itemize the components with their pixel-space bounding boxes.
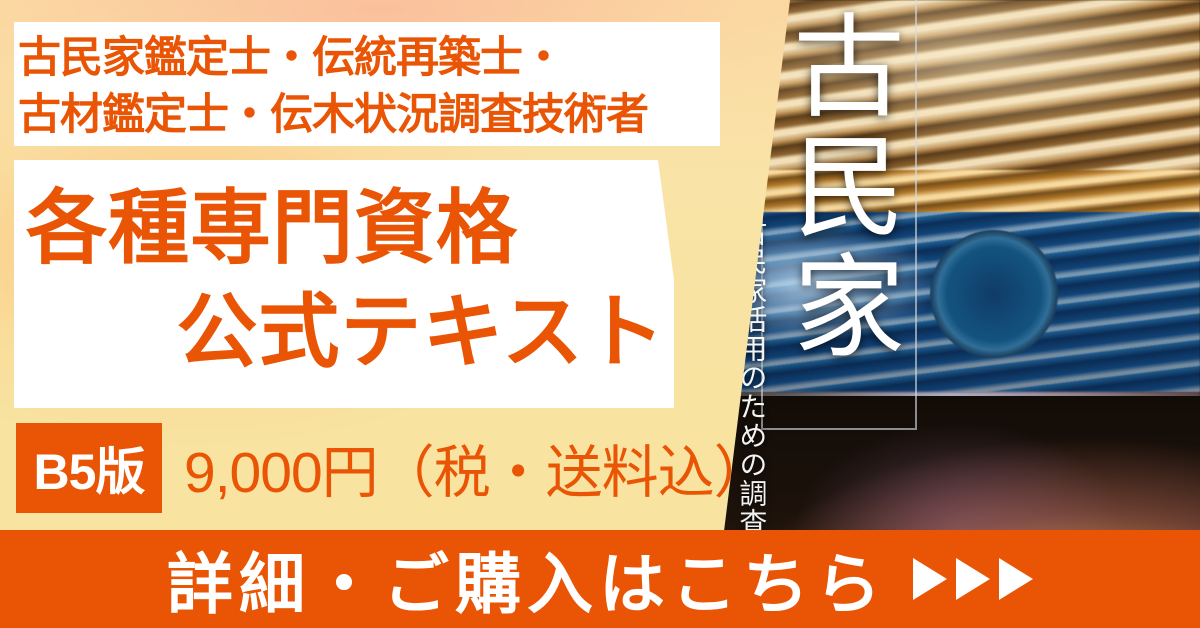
qualification-line-2: 古材鑑定士・伝木状況調査技術者 [18, 87, 718, 144]
qualification-line-1: 古民家鑑定士・伝統再築士・ [18, 30, 718, 87]
price-row: B5版 9,000円（税・送料込） [16, 423, 770, 513]
cover-title-text: 古民家 [772, 8, 906, 368]
qualifications-text: 古民家鑑定士・伝統再築士・ 古材鑑定士・伝木状況調査技術者 [18, 30, 718, 144]
cta-bar[interactable]: 詳細・ご購入はこちら [0, 530, 1200, 628]
chevron-right-icon [913, 558, 947, 600]
headline-line-1: 各種専門資格 [20, 178, 670, 282]
headline-line-2: 公式テキスト [20, 282, 670, 386]
format-badge: B5版 [16, 423, 162, 513]
chevron-right-icon [956, 558, 990, 600]
price-text: 9,000円（税・送料込） [184, 427, 770, 509]
cta-arrows [913, 558, 1033, 600]
cta-label: 詳細・ご購入はこちら [167, 531, 887, 627]
promo-banner: 古民家 伝統構法 古民家活用のための調査と再生の 古民家鑑定士・伝統再築士・ 古… [0, 0, 1200, 628]
chevron-right-icon [999, 558, 1033, 600]
headline-text: 各種専門資格 公式テキスト [20, 178, 670, 385]
